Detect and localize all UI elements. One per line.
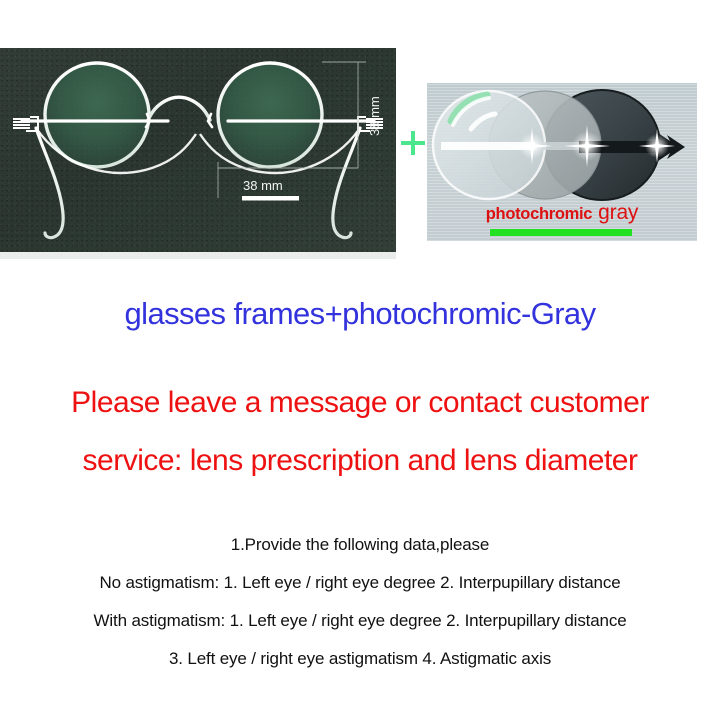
details-block: 1.Provide the following data,please No a… (0, 526, 720, 678)
page-title: glasses frames+photochromic-Gray (0, 296, 720, 332)
lens-width-label: 38 mm (243, 178, 283, 193)
detail-line: 1.Provide the following data,please (0, 526, 720, 564)
photochromic-lens-photo: photochromicgray (427, 83, 697, 241)
photo-bottom-strip (0, 252, 396, 259)
lens-caption-sub: gray (598, 201, 638, 224)
lens-caption-underline (490, 229, 632, 236)
lens-caption: photochromicgray (427, 201, 697, 225)
notice-block: Please leave a message or contact custom… (0, 374, 720, 490)
notice-line: service: lens prescription and lens diam… (0, 432, 720, 490)
detail-line: No astigmatism: 1. Left eye / right eye … (0, 564, 720, 602)
plus-icon (398, 128, 428, 158)
product-image-row: 38 mm 38 mm (0, 0, 720, 262)
glasses-frame-photo: 38 mm 38 mm (0, 48, 396, 252)
detail-line: With astigmatism: 1. Left eye / right ey… (0, 602, 720, 640)
lens-caption-main: photochromic (486, 205, 592, 223)
detail-line: 3. Left eye / right eye astigmatism 4. A… (0, 640, 720, 678)
notice-line: Please leave a message or contact custom… (0, 374, 720, 432)
lens-height-label: 38 mm (367, 96, 382, 136)
glasses-frame-illustration: 38 mm 38 mm (0, 48, 396, 252)
